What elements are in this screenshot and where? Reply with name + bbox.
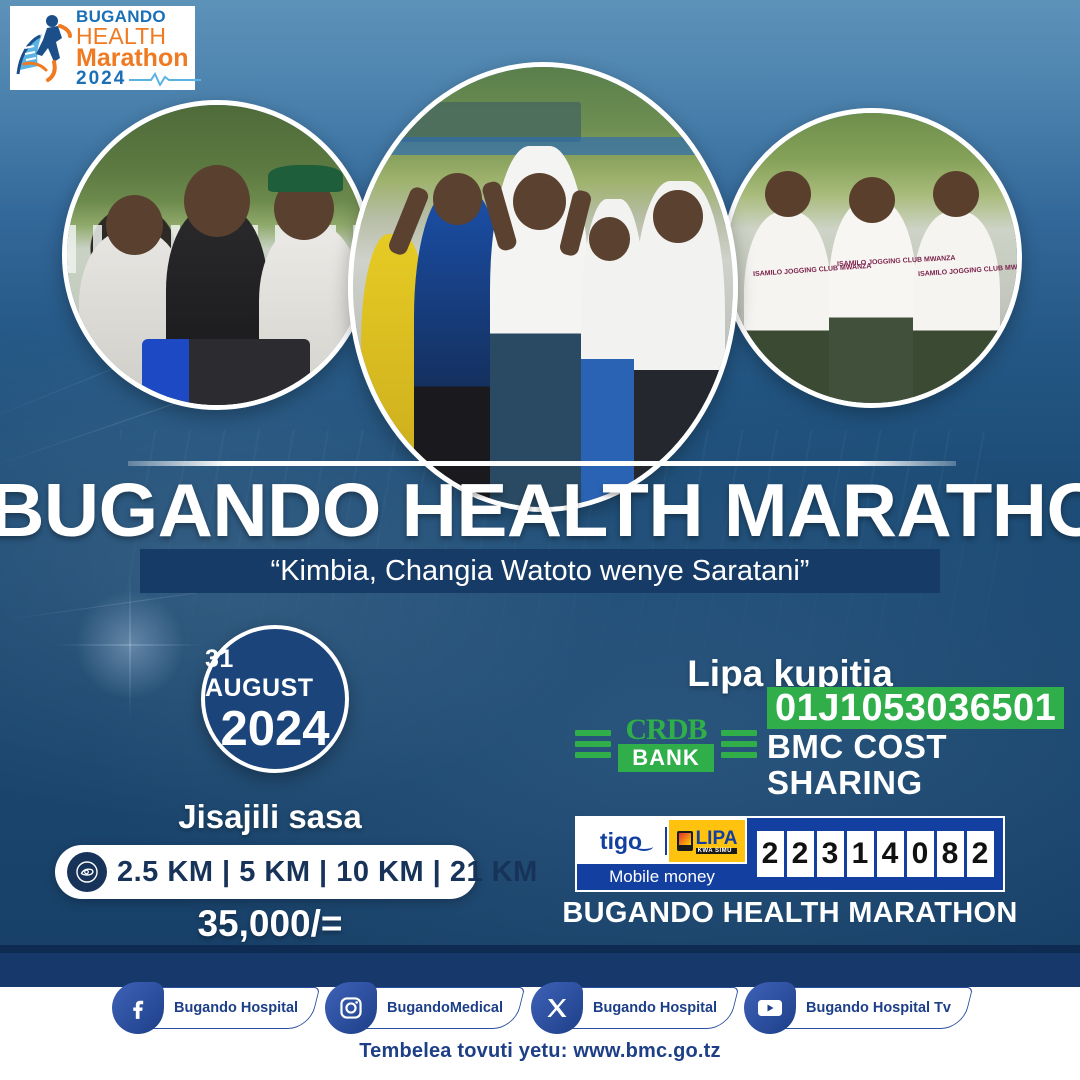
lipa-sublabel: KWA SIMU — [696, 848, 738, 854]
lipa-kwa-simu-badge: LIPA KWA SIMU — [669, 820, 745, 862]
footer-dark-rule — [0, 945, 1080, 953]
x-twitter-icon — [531, 982, 583, 1034]
social-handle-youtube: Bugando Hospital Tv — [806, 1000, 951, 1016]
social-links-row: Bugando Hospital BugandoMedical — [0, 980, 1080, 1036]
entry-fee: 35,000/= — [0, 903, 540, 945]
social-handle-x: Bugando Hospital — [593, 1000, 717, 1016]
social-handle-facebook: Bugando Hospital — [174, 1000, 298, 1016]
tigo-mobile-money-box: tigo LIPA KWA SIMU Mobile money 2 2 3 1 … — [575, 816, 1005, 892]
crdb-logo-sub: BANK — [618, 744, 714, 772]
digit-box: 1 — [847, 831, 874, 877]
social-link-youtube[interactable]: Bugando Hospital Tv — [744, 982, 968, 1034]
tagline-band: “Kimbia, Changia Watoto wenye Saratani” — [140, 549, 940, 593]
distance-options-text: 2.5 KM | 5 KM | 10 KM | 21 KM — [117, 856, 538, 889]
mobile-money-label: Mobile money — [609, 867, 715, 887]
title-divider-rule — [128, 461, 956, 466]
tigo-divider — [665, 827, 667, 855]
distance-options-pill[interactable]: 2.5 KM | 5 KM | 10 KM | 21 KM — [55, 845, 477, 899]
bank-account-name: BMC COST SHARING — [767, 729, 1064, 801]
photo-right: ISAMILO JOGGING CLUB MWANZA ISAMILO JOGG… — [722, 108, 1022, 408]
lipa-label: LIPA — [696, 829, 738, 848]
phone-card-icon — [677, 831, 693, 851]
social-handle-youtube-wrap: Bugando Hospital Tv — [778, 987, 972, 1029]
event-logo: BUGANDO HEALTH Marathon 2024 — [10, 6, 195, 90]
social-handle-facebook-wrap: Bugando Hospital — [147, 987, 321, 1029]
running-man-icon — [16, 12, 72, 84]
tigo-logo: tigo — [577, 828, 665, 855]
social-handle-x-wrap: Bugando Hospital — [565, 987, 739, 1029]
social-handle-instagram: BugandoMedical — [387, 1000, 503, 1016]
background-starburst — [60, 575, 200, 715]
crdb-logo-word: CRDB — [618, 717, 714, 743]
digit-box: 2 — [967, 831, 994, 877]
digit-box: 2 — [757, 831, 784, 877]
digit-box: 3 — [817, 831, 844, 877]
photo-left — [62, 100, 372, 410]
crdb-bank-logo: CRDB BANK — [618, 717, 714, 772]
youtube-icon — [744, 982, 796, 1034]
heartbeat-line-icon — [129, 72, 201, 86]
mobile-money-number: 2 2 3 1 4 0 8 2 — [747, 818, 1003, 890]
social-link-facebook[interactable]: Bugando Hospital — [112, 982, 315, 1034]
bank-account-number: 01J1053036501 — [767, 687, 1064, 729]
crdb-payment-row: CRDB BANK 01J1053036501 BMC COST SHARING — [575, 705, 1025, 783]
event-date-day: 31 AUGUST — [205, 645, 345, 703]
page-title: BUGANDO HEALTH MARATHON — [0, 471, 1080, 549]
digit-box: 2 — [787, 831, 814, 877]
social-link-instagram[interactable]: BugandoMedical — [325, 982, 520, 1034]
digit-box: 0 — [907, 831, 934, 877]
event-date-year: 2024 — [220, 705, 329, 753]
event-date-badge: 31 AUGUST 2024 — [201, 625, 349, 773]
crdb-bars-right-icon — [721, 730, 757, 758]
logo-line-year: 2024 — [76, 69, 126, 88]
register-heading: Jisajili sasa — [0, 798, 540, 836]
running-shoe-icon — [67, 852, 107, 892]
digit-box: 8 — [937, 831, 964, 877]
social-link-x[interactable]: Bugando Hospital — [531, 982, 734, 1034]
website-url[interactable]: Tembelea tovuti yetu: www.bmc.go.tz — [0, 1040, 1080, 1063]
photo-center — [348, 62, 738, 512]
mobile-account-name: BUGANDO HEALTH MARATHON — [560, 897, 1020, 930]
marathon-poster: BUGANDO HEALTH Marathon 2024 — [0, 0, 1080, 1080]
crdb-bars-left-icon — [575, 730, 611, 758]
social-handle-instagram-wrap: BugandoMedical — [360, 987, 525, 1029]
digit-box: 4 — [877, 831, 904, 877]
tagline-text: “Kimbia, Changia Watoto wenye Saratani” — [271, 555, 810, 588]
